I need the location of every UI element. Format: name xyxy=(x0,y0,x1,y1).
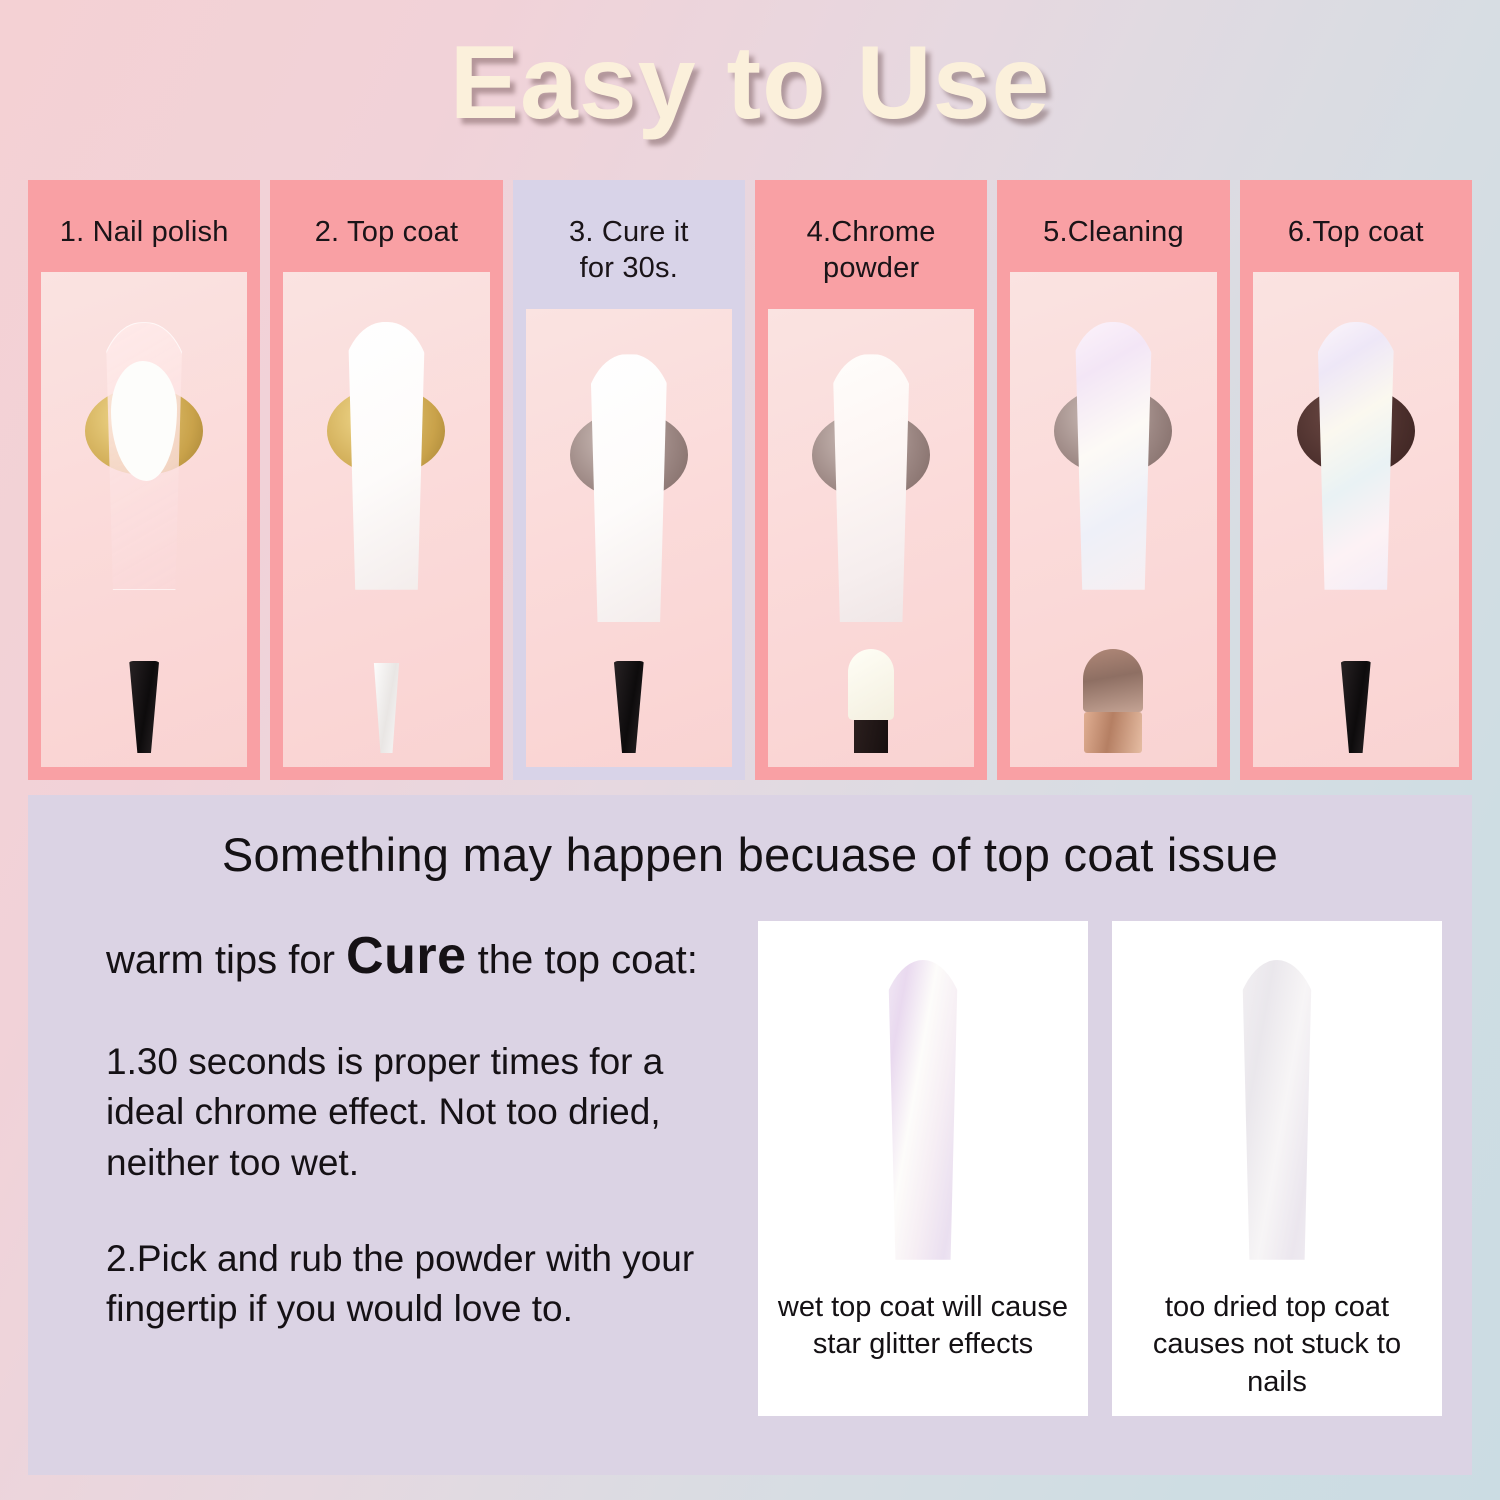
dried-top-coat-nail-image xyxy=(1231,960,1323,1260)
warning-body: warm tips for Cure the top coat: 1.30 se… xyxy=(28,881,1472,1416)
page-title: Easy to Use xyxy=(450,31,1051,135)
step-card-6: 6.Top coat xyxy=(1240,180,1472,780)
nail-tip-image xyxy=(1310,322,1402,590)
tips-lead-suffix: the top coat: xyxy=(467,938,698,982)
warning-panel: Something may happen becuase of top coat… xyxy=(28,795,1472,1475)
tip-item-2: 2.Pick and rub the powder with your fing… xyxy=(106,1234,732,1335)
step-photo-6 xyxy=(1253,272,1459,767)
comparison-nail-wrap xyxy=(1231,945,1323,1275)
polish-brush-black-icon xyxy=(612,661,646,753)
step-photo-5 xyxy=(1010,272,1216,767)
step-photo-3 xyxy=(526,309,732,768)
title-banner: Easy to Use xyxy=(0,0,1500,165)
comparison-caption-wet: wet top coat will cause star glitter eff… xyxy=(768,1275,1078,1364)
brush-ferrule xyxy=(1084,712,1142,753)
nail-tip-image xyxy=(340,322,432,590)
step-label-5: 5.Cleaning xyxy=(997,186,1229,272)
step-photo-4 xyxy=(768,309,974,768)
tips-column: warm tips for Cure the top coat: 1.30 se… xyxy=(58,921,732,1416)
tip-item-1: 1.30 seconds is proper times for a ideal… xyxy=(106,1037,732,1188)
steps-strip: 1. Nail polish 2. Top coat 3. Cure it fo… xyxy=(28,180,1472,780)
step-card-4: 4.Chrome powder xyxy=(755,180,987,780)
polish-brush-black-icon xyxy=(1339,661,1373,753)
tips-lead-emphasis: Cure xyxy=(346,927,466,985)
warning-heading: Something may happen becuase of top coat… xyxy=(28,817,1472,881)
comparison-cards: wet top coat will cause star glitter eff… xyxy=(758,921,1442,1416)
step-label-1: 1. Nail polish xyxy=(28,186,260,272)
sponge-stick xyxy=(854,720,888,753)
comparison-card-wet: wet top coat will cause star glitter eff… xyxy=(758,921,1088,1416)
sponge-applicator-icon xyxy=(848,649,894,753)
step-label-3: 3. Cure it for 30s. xyxy=(513,186,745,309)
comparison-nail-wrap xyxy=(877,945,969,1275)
step-label-6: 6.Top coat xyxy=(1240,186,1472,272)
rose-gold-brush-icon xyxy=(1080,649,1146,753)
step-label-2: 2. Top coat xyxy=(270,186,502,272)
step-card-2: 2. Top coat xyxy=(270,180,502,780)
brush-hairs xyxy=(1083,649,1143,712)
tips-lead-prefix: warm tips for xyxy=(106,938,346,982)
step-photo-2 xyxy=(283,272,489,767)
step-card-1: 1. Nail polish xyxy=(28,180,260,780)
comparison-card-dried: too dried top coat causes not stuck to n… xyxy=(1112,921,1442,1416)
tips-lead: warm tips for Cure the top coat: xyxy=(106,921,732,991)
step-label-4: 4.Chrome powder xyxy=(755,186,987,309)
polish-brush-black-icon xyxy=(127,661,161,753)
nail-tip-image xyxy=(825,354,917,622)
sponge-head xyxy=(848,649,894,720)
comparison-caption-dried: too dried top coat causes not stuck to n… xyxy=(1122,1275,1432,1402)
nail-tip-image xyxy=(1067,322,1159,590)
nail-tip-image xyxy=(583,354,675,622)
step-card-3: 3. Cure it for 30s. xyxy=(513,180,745,780)
step-photo-1 xyxy=(41,272,247,767)
step-card-5: 5.Cleaning xyxy=(997,180,1229,780)
wet-top-coat-nail-image xyxy=(877,960,969,1260)
top-coat-brush-white-icon xyxy=(371,663,401,753)
